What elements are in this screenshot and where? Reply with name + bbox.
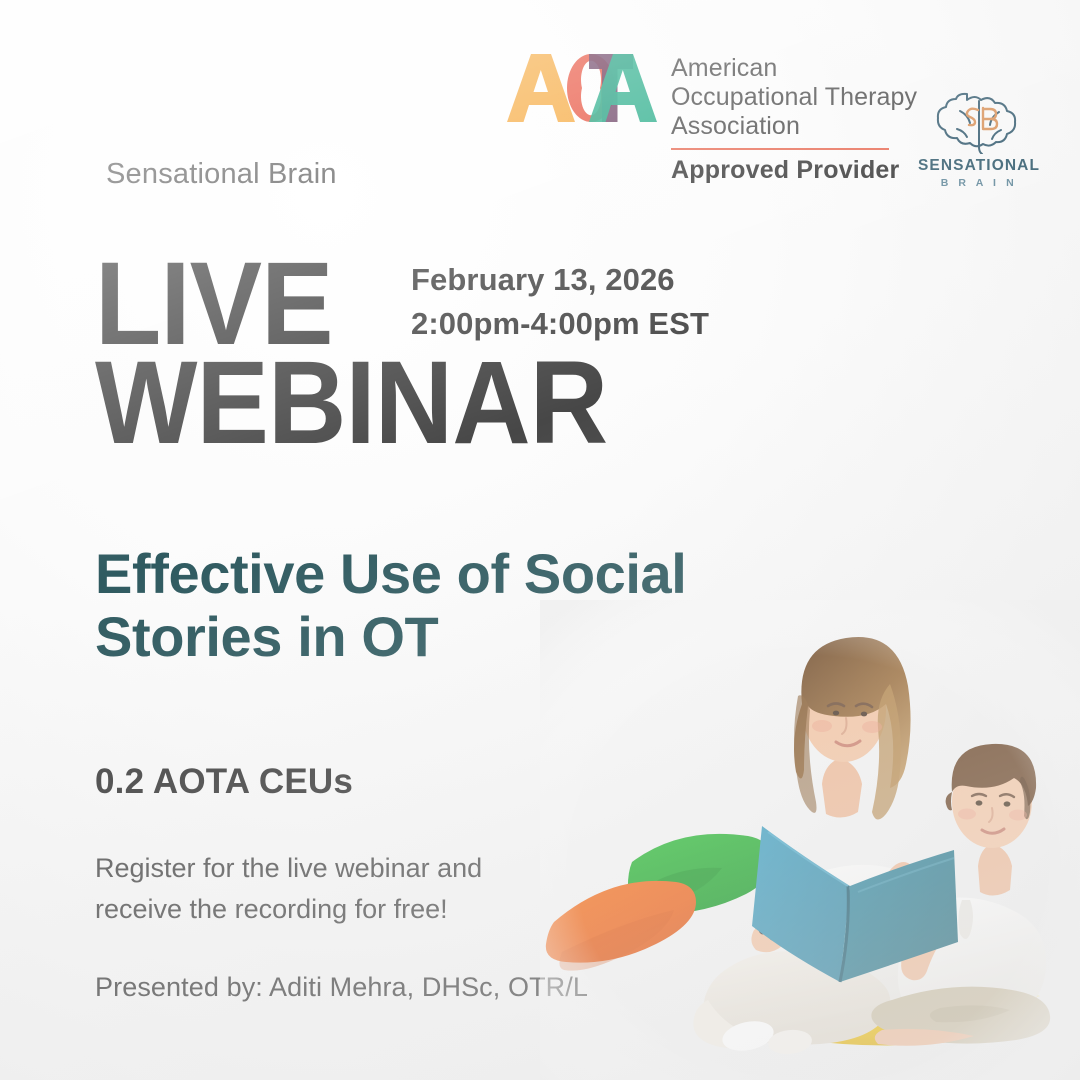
webinar-title-line1: Effective Use of Social	[95, 543, 925, 606]
logo-row: American Occupational Therapy Associatio…	[0, 44, 1080, 174]
brain-icon	[917, 92, 1041, 154]
ceu-credits: 0.2 AOTA CEUs	[95, 762, 353, 802]
sensational-brain-logo: SENSATIONAL B R A I N	[917, 92, 1041, 189]
schedule-date: February 13, 2026	[411, 258, 709, 302]
aota-wordmark-icon	[505, 52, 657, 124]
aota-divider-rule	[671, 148, 889, 150]
aota-text-block: American Occupational Therapy Associatio…	[671, 52, 917, 185]
registration-blurb-line2: receive the recording for free!	[95, 889, 615, 930]
sensational-brain-subname: B R A I N	[917, 177, 1041, 189]
aota-approved-provider-label: Approved Provider	[671, 156, 917, 185]
aota-organization-name: American Occupational Therapy Associatio…	[671, 54, 917, 141]
webinar-promo-poster: American Occupational Therapy Associatio…	[0, 0, 1080, 1080]
aota-approved-provider-logo: American Occupational Therapy Associatio…	[505, 52, 917, 185]
registration-blurb-line1: Register for the live webinar and	[95, 848, 615, 889]
headline-webinar: WEBINAR	[95, 354, 607, 453]
registration-blurb: Register for the live webinar and receiv…	[95, 848, 615, 930]
schedule-block: February 13, 2026 2:00pm-4:00pm EST	[411, 258, 709, 346]
brand-name: Sensational Brain	[106, 158, 337, 191]
schedule-time: 2:00pm-4:00pm EST	[411, 302, 709, 346]
presenter-credit: Presented by: Aditi Mehra, DHSc, OTR/L	[95, 972, 588, 1003]
reading-photo	[540, 600, 1080, 1080]
sensational-brain-name: SENSATIONAL	[917, 157, 1041, 175]
